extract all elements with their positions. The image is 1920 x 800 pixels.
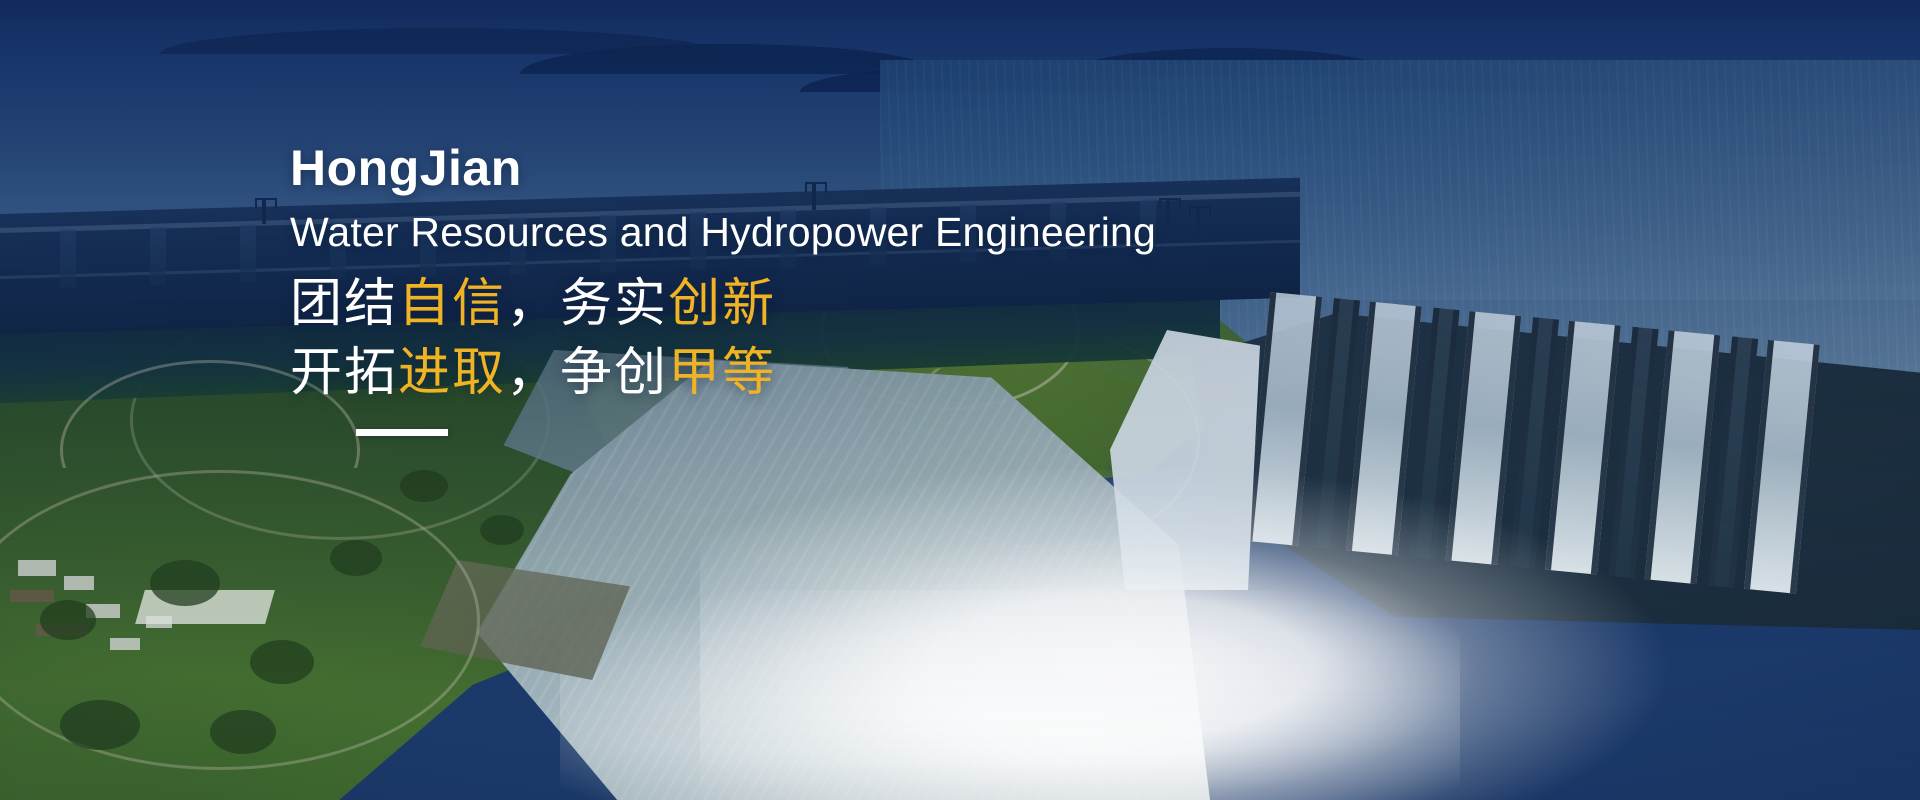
slogan-segment: ， — [506, 275, 560, 333]
slogan-segment-highlight: 甲等 — [668, 344, 776, 402]
hero-banner: HongJian Water Resources and Hydropower … — [0, 0, 1920, 800]
slogan-segment: 争创 — [560, 344, 668, 402]
company-brand-name: HongJian — [290, 143, 1156, 193]
slogan-segment: 务实 — [560, 275, 668, 333]
slogan-divider-rule — [356, 429, 448, 436]
slogan-segment: 开拓 — [290, 344, 398, 402]
slogan-segment: 团结 — [290, 275, 398, 333]
banner-text-overlay: HongJian Water Resources and Hydropower … — [0, 0, 1920, 800]
slogan-segment-highlight: 进取 — [398, 344, 506, 402]
slogan-segment-highlight: 自信 — [398, 275, 506, 333]
banner-copy-block: HongJian Water Resources and Hydropower … — [290, 143, 1156, 436]
slogan-line-1: 团结自信，务实创新 — [290, 270, 1156, 339]
slogan-line-2: 开拓进取，争创甲等 — [290, 339, 1156, 408]
slogan-segment-highlight: 创新 — [668, 275, 776, 333]
slogan-segment: ， — [506, 344, 560, 402]
company-subtitle: Water Resources and Hydropower Engineeri… — [290, 211, 1156, 254]
